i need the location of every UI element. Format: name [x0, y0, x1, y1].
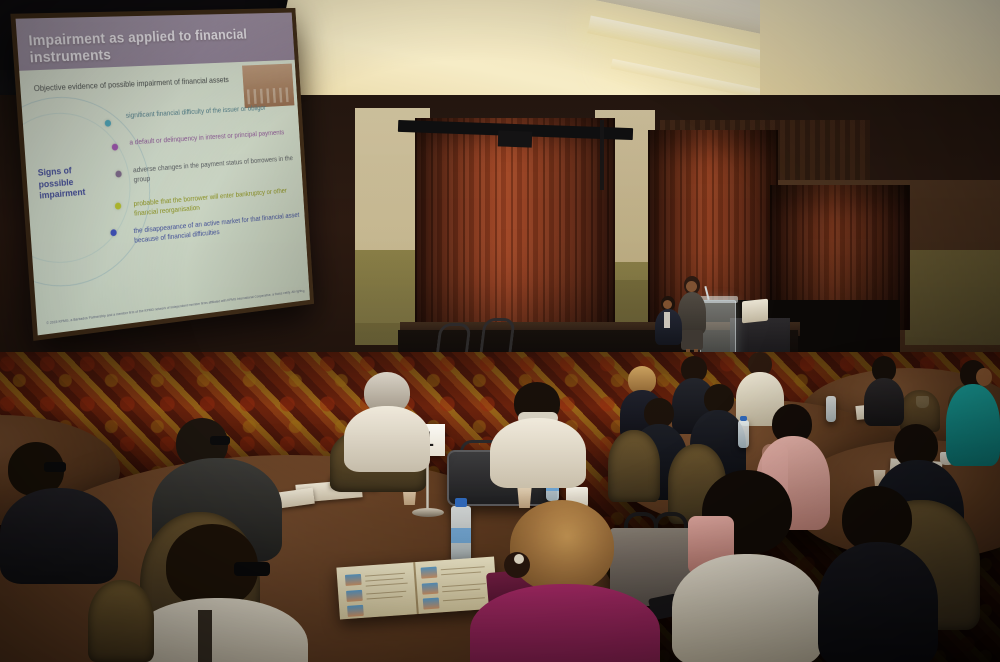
eyeglasses-icon [210, 436, 230, 445]
booklet-text-line [365, 578, 403, 582]
attendee-face [976, 368, 992, 386]
booklet-text-line [366, 583, 408, 587]
slide-side-label: Signs of possible impairment [37, 164, 97, 202]
booklet-headshot-3 [347, 605, 364, 617]
attendee-light-top [672, 554, 822, 662]
table-number-base [412, 508, 444, 517]
presenter-skirt [681, 330, 703, 350]
presenter-face [686, 281, 697, 292]
water-bottle-table-front [451, 506, 471, 562]
attendee-white-shirt [344, 406, 430, 472]
panelist-face [663, 300, 672, 309]
earring-icon [514, 554, 524, 564]
banquet-chair-mid-1 [608, 430, 660, 502]
slide-page-number: 8 [303, 289, 305, 294]
attendee-bottom-left-glasses [128, 524, 308, 662]
truss-vertical-pole [600, 120, 604, 190]
presentation-slide: Impairment as applied to financial instr… [16, 13, 310, 336]
booklet-headshot-6 [423, 598, 440, 610]
attendee-bottom-right-woman [672, 470, 822, 662]
banquet-chair-bottom-left [88, 580, 154, 662]
attendee-magenta-top [470, 584, 660, 662]
attendee-back-right-woman [864, 356, 904, 422]
attendee-bottom-far-right [818, 486, 938, 662]
panelist-shirt [664, 312, 670, 328]
bottle-cap [455, 498, 467, 507]
laptop-on-stage [742, 299, 768, 324]
truss-fixture-box [498, 130, 533, 147]
booklet-headshot-1 [345, 574, 362, 586]
attendee-curly-hair [510, 500, 614, 592]
attendee-white-shirt [490, 418, 586, 488]
booklet-text-line [365, 573, 405, 577]
attendee-far-left [0, 442, 118, 572]
slide-bullet-text-3: adverse changes in the payment status of… [133, 153, 296, 184]
bottle-label [451, 528, 471, 543]
attendee-beard-white-shirt [490, 382, 586, 478]
attendee-magenta-curly [470, 500, 660, 662]
booklet-headshot-2 [346, 590, 363, 602]
booklet-text-line [366, 591, 406, 595]
attendee-suit [818, 542, 938, 662]
booklet-spine [414, 562, 420, 614]
slide-bullet-text-1: significant financial difficulty of the … [125, 102, 289, 120]
booklet-text-line [367, 596, 403, 600]
booklet-headshot-5 [422, 583, 439, 595]
slide-subtitle: Objective evidence of possible impairmen… [33, 76, 229, 94]
projection-screen-frame: Impairment as applied to financial instr… [10, 8, 314, 341]
seated-panelist [655, 296, 683, 356]
bottle-cap [740, 416, 747, 421]
wall-panel-olive-far-right [905, 250, 1000, 345]
slide-bullet-text-2: a default or delinquency in interest or … [129, 127, 292, 147]
attendee-dark-suit [0, 488, 118, 584]
attendee-white-shirt [128, 598, 308, 662]
eyeglasses-icon [234, 562, 270, 576]
attendee-lanyard [198, 610, 212, 662]
attendee-white-hair-man [344, 372, 430, 464]
water-bottle-mid [738, 420, 749, 448]
eyeglasses-icon [44, 462, 66, 472]
booklet-headshot-4 [421, 567, 438, 579]
projection-screen: Impairment as applied to financial instr… [10, 8, 315, 343]
conference-photo-scene: Impairment as applied to financial instr… [0, 0, 1000, 662]
attendee-top [864, 378, 904, 426]
stage-curtain-main [415, 118, 615, 353]
